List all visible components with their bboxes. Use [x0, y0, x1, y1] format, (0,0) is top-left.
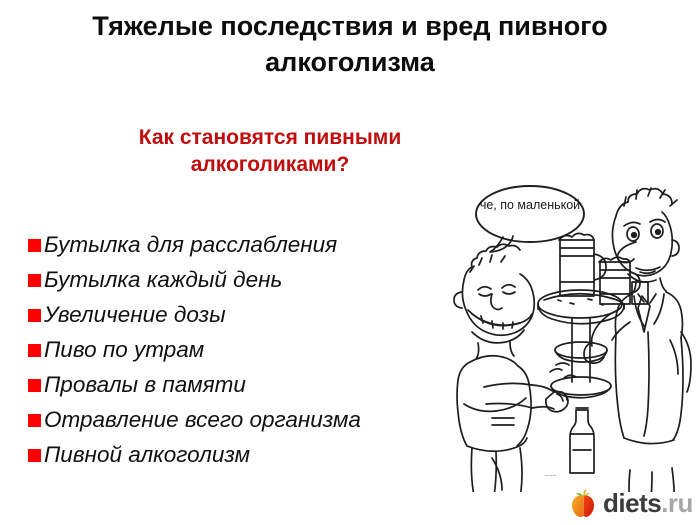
logo-word: diets — [603, 488, 661, 519]
svg-text:~~~: ~~~ — [544, 473, 556, 480]
red-square-bullet-icon — [28, 379, 41, 392]
red-square-bullet-icon — [28, 274, 41, 287]
subtitle-question: Как становятся пивными алкоголиками? — [60, 124, 480, 178]
speech-bubble-text: че, по маленькой — [478, 197, 582, 213]
list-item: Отравление всего организма — [28, 402, 448, 437]
list-item-label: Провалы в памяти — [44, 372, 246, 398]
list-item-label: Увеличение дозы — [44, 302, 226, 328]
red-square-bullet-icon — [28, 239, 41, 252]
red-square-bullet-icon — [28, 414, 41, 427]
list-item: Бутылка каждый день — [28, 262, 448, 297]
list-item-label: Пиво по утрам — [44, 337, 204, 363]
site-logo[interactable]: diets .ru — [566, 486, 693, 520]
artist-signature: ~~~ — [544, 473, 556, 480]
list-item-label: Отравление всего организма — [44, 407, 361, 433]
bullet-list: Бутылка для расслабления Бутылка каждый … — [28, 227, 448, 472]
list-item: Провалы в памяти — [28, 367, 448, 402]
red-square-bullet-icon — [28, 449, 41, 462]
list-item-label: Бутылка каждый день — [44, 267, 282, 293]
list-item-label: Бутылка для расслабления — [44, 232, 337, 258]
logo-tld: .ru — [661, 488, 693, 519]
list-item-label: Пивной алкоголизм — [44, 442, 250, 468]
list-item: Бутылка для расслабления — [28, 227, 448, 262]
red-square-bullet-icon — [28, 309, 41, 322]
two-men-drinking-beer-drawing: ~~~ — [440, 182, 700, 492]
list-item: Увеличение дозы — [28, 297, 448, 332]
list-item: Пивной алкоголизм — [28, 437, 448, 472]
cartoon-illustration: ~~~ — [440, 182, 700, 492]
slide-canvas: Тяжелые последствия и вред пивного алког… — [0, 0, 700, 525]
page-title: Тяжелые последствия и вред пивного алког… — [30, 8, 670, 80]
red-square-bullet-icon — [28, 344, 41, 357]
apple-icon — [566, 486, 600, 520]
list-item: Пиво по утрам — [28, 332, 448, 367]
